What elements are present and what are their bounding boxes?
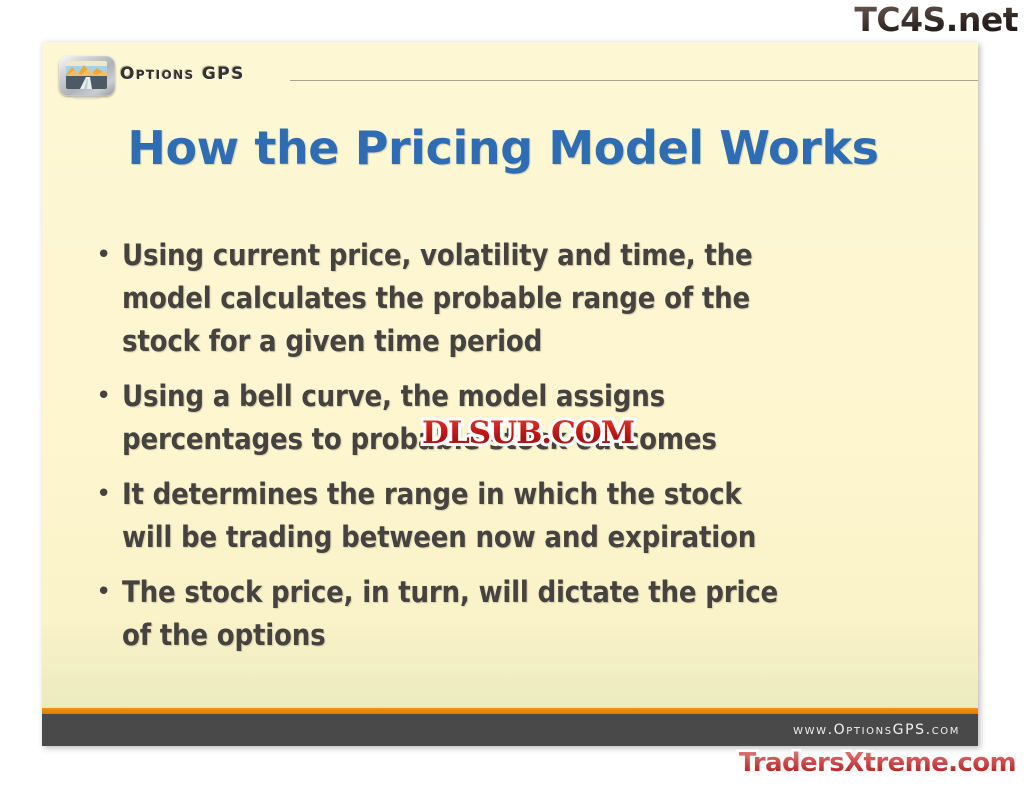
list-item-text: Using current price, volatility and time… [122,234,954,363]
overlay-watermark: DLSUB.COM [422,416,634,450]
bullet-marker: • [94,571,122,614]
list-item: • The stock price, in turn, will dictate… [94,571,954,657]
bullet-marker: • [94,375,122,418]
bullet-marker: • [94,234,122,277]
gps-device-icon [59,56,115,100]
list-item-line: of the options [122,614,954,657]
gps-device-reflection [72,94,102,100]
list-item: • It determines the range in which the s… [94,473,954,559]
gps-screen-artwork [66,61,107,89]
list-item-line: will be trading between now and expirati… [122,516,954,559]
bullet-marker: • [94,473,122,516]
page-bottom-watermark-fill: TradersXtreme.com [739,747,1017,779]
footer-website-url: www.OptionsGPS.com [793,722,960,738]
list-item-line: It determines the range in which the sto… [122,473,954,516]
page-title: How the Pricing Model Works [42,120,978,176]
bullet-list: • Using current price, volatility and ti… [94,234,954,669]
page-top-watermark: TC4S.net [854,1,1018,39]
header-divider [290,80,978,81]
gps-device-screen [66,61,107,89]
slide-header: Options GPS [42,42,978,104]
list-item-text: It determines the range in which the sto… [122,473,954,559]
presentation-slide: Options GPS How the Pricing Model Works … [42,42,978,746]
brand-label: Options GPS [120,64,245,84]
list-item-line: Using current price, volatility and time… [122,234,954,277]
slide-footer: www.OptionsGPS.com [42,714,978,746]
list-item-line: The stock price, in turn, will dictate t… [122,571,954,614]
list-item-line: stock for a given time period [122,320,954,363]
list-item-line: model calculates the probable range of t… [122,277,954,320]
list-item-text: The stock price, in turn, will dictate t… [122,571,954,657]
list-item: • Using current price, volatility and ti… [94,234,954,363]
list-item-line: Using a bell curve, the model assigns [122,375,954,418]
